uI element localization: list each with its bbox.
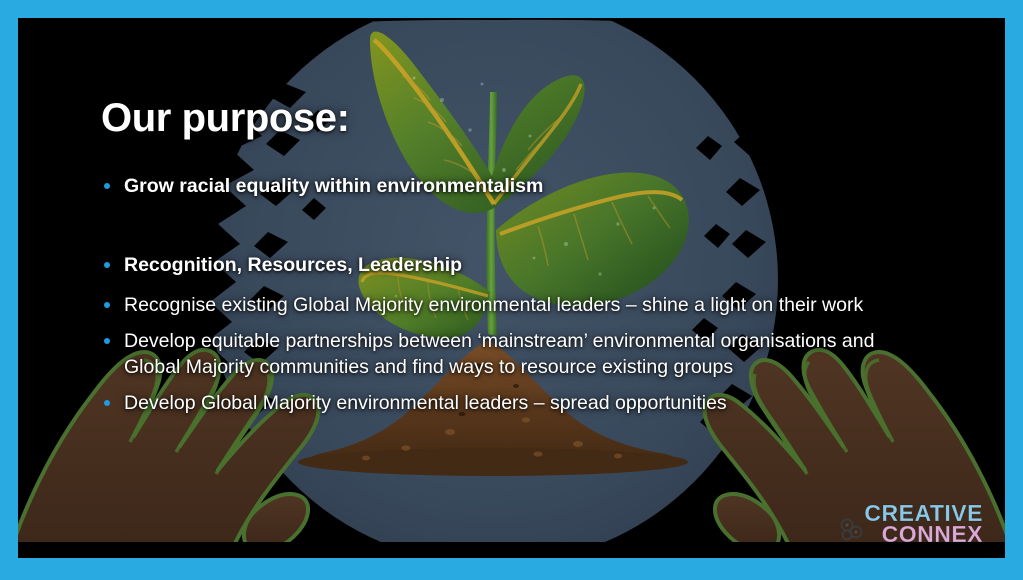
list-item-text: Recognise existing Global Majority envir… [124, 294, 863, 316]
list-item: Grow racial equality within environmenta… [102, 173, 932, 199]
bullet-dot-icon [104, 262, 110, 268]
brand-logo: CREATIVE CONNEX [864, 502, 983, 546]
slide-canvas: Our purpose: Grow racial equality within… [18, 18, 1005, 558]
list-item: Develop Global Majority environmental le… [102, 390, 932, 416]
list-item: Recognise existing Global Majority envir… [102, 292, 932, 318]
list-item: Develop equitable partnerships between ‘… [102, 328, 932, 380]
bullet-dot-icon [104, 400, 110, 406]
slide-frame: Our purpose: Grow racial equality within… [0, 0, 1023, 580]
bullet-dot-icon [104, 183, 110, 189]
list-item-text: Grow racial equality within environmenta… [124, 175, 543, 197]
page-title: Our purpose: [101, 96, 350, 141]
bullet-dot-icon [104, 338, 110, 344]
list-item: Recognition, Resources, Leadership [102, 252, 932, 278]
bullet-list: Grow racial equality within environmenta… [102, 173, 932, 416]
list-item-text: Recognition, Resources, Leadership [124, 254, 462, 276]
text-layer: Our purpose: Grow racial equality within… [18, 18, 1005, 558]
connector-circles-icon [838, 516, 866, 544]
bullet-dot-icon [104, 302, 110, 308]
logo-text-connex: CONNEX [864, 523, 983, 546]
list-item-text: Develop equitable partnerships between ‘… [124, 330, 874, 378]
list-item-text: Develop Global Majority environmental le… [124, 392, 727, 414]
